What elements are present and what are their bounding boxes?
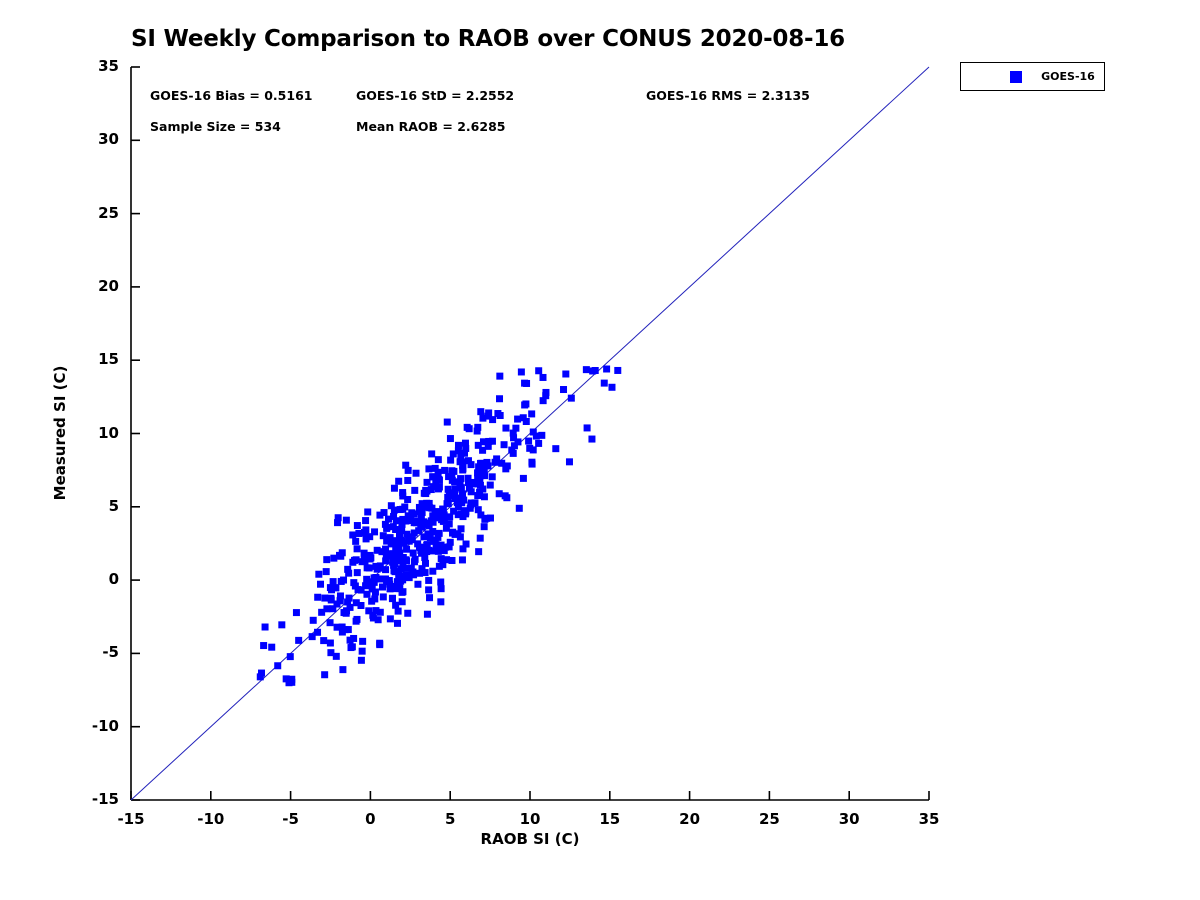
scatter-point — [424, 611, 431, 618]
scatter-point — [477, 408, 484, 415]
scatter-point — [321, 671, 328, 678]
scatter-point — [376, 641, 383, 648]
y-tick-label: 35 — [59, 57, 119, 75]
scatter-point — [399, 489, 406, 496]
scatter-point — [262, 624, 269, 631]
scatter-point — [475, 548, 482, 555]
annotation-std: GOES-16 StD = 2.2552 — [356, 88, 514, 103]
scatter-point — [317, 581, 324, 588]
scatter-point — [540, 374, 547, 381]
scatter-point — [601, 380, 608, 387]
scatter-point — [530, 446, 537, 453]
scatter-point — [503, 494, 510, 501]
scatter-point — [268, 644, 275, 651]
scatter-point — [512, 425, 519, 432]
scatter-point — [428, 450, 435, 457]
scatter-point — [339, 629, 346, 636]
scatter-point — [389, 559, 396, 566]
scatter-point — [560, 386, 567, 393]
scatter-point — [333, 653, 340, 660]
scatter-point — [354, 545, 361, 552]
scatter-point — [467, 505, 474, 512]
scatter-point — [346, 595, 353, 602]
scatter-point — [463, 541, 470, 548]
scatter-point — [411, 529, 418, 536]
y-tick-label: -10 — [59, 717, 119, 735]
scatter-point — [441, 547, 448, 554]
scatter-point — [481, 493, 488, 500]
scatter-point — [377, 609, 384, 616]
annotation-bias: GOES-16 Bias = 0.5161 — [150, 88, 312, 103]
scatter-point — [437, 598, 444, 605]
scatter-point — [588, 436, 595, 443]
scatter-point — [404, 610, 411, 617]
scatter-point — [429, 528, 436, 535]
scatter-point — [481, 523, 488, 530]
scatter-point — [332, 584, 339, 591]
scatter-point — [496, 373, 503, 380]
x-tick-label: -10 — [181, 810, 241, 828]
scatter-point — [410, 550, 417, 557]
x-tick-label: 25 — [739, 810, 799, 828]
scatter-point — [482, 461, 489, 468]
scatter-point — [274, 662, 281, 669]
scatter-point — [420, 533, 427, 540]
scatter-point — [417, 544, 424, 551]
scatter-point — [422, 490, 429, 497]
scatter-point — [315, 571, 322, 578]
scatter-point — [286, 679, 293, 686]
scatter-point — [535, 440, 542, 447]
scatter-point — [389, 595, 396, 602]
scatter-point — [293, 609, 300, 616]
scatter-point — [476, 466, 483, 473]
scatter-point — [371, 595, 378, 602]
scatter-point — [371, 528, 378, 535]
scatter-point — [364, 564, 371, 571]
x-tick-label: 15 — [580, 810, 640, 828]
scatter-point — [522, 400, 529, 407]
scatter-point — [497, 412, 504, 419]
scatter-point — [402, 462, 409, 469]
scatter-point — [426, 594, 433, 601]
scatter-point — [414, 581, 421, 588]
scatter-point — [496, 490, 503, 497]
scatter-point — [343, 607, 350, 614]
scatter-point — [260, 642, 267, 649]
scatter-point — [516, 505, 523, 512]
scatter-point — [465, 475, 472, 482]
scatter-point — [520, 475, 527, 482]
scatter-point — [477, 535, 484, 542]
scatter-point — [520, 414, 527, 421]
y-axis-label: Measured SI (C) — [51, 333, 69, 533]
scatter-point — [511, 442, 518, 449]
page-title: SI Weekly Comparison to RAOB over CONUS … — [131, 26, 931, 52]
scatter-point — [395, 608, 402, 615]
scatter-point — [354, 522, 361, 529]
scatter-point — [330, 578, 337, 585]
scatter-point — [359, 648, 366, 655]
scatter-point — [278, 621, 285, 628]
x-tick-label: 5 — [420, 810, 480, 828]
scatter-point — [323, 556, 330, 563]
scatter-point — [518, 368, 525, 375]
scatter-point — [295, 637, 302, 644]
scatter-point — [413, 470, 420, 477]
scatter-point — [287, 653, 294, 660]
scatter-point — [394, 578, 401, 585]
scatter-point — [355, 586, 362, 593]
scatter-point — [399, 589, 406, 596]
scatter-point — [435, 485, 442, 492]
legend-marker-icon — [1010, 71, 1022, 83]
scatter-point — [496, 395, 503, 402]
x-tick-label: 30 — [819, 810, 879, 828]
scatter-point — [474, 424, 481, 431]
scatter-point — [480, 438, 487, 445]
scatter-point — [327, 619, 334, 626]
scatter-point — [603, 366, 610, 373]
scatter-point — [363, 535, 370, 542]
scatter-point — [403, 557, 410, 564]
scatter-point — [444, 494, 451, 501]
scatter-point — [477, 511, 484, 518]
scatter-point — [457, 533, 464, 540]
scatter-point — [310, 617, 317, 624]
y-tick-label: 20 — [59, 277, 119, 295]
scatter-point — [487, 482, 494, 489]
y-tick-label: -15 — [59, 790, 119, 808]
scatter-point — [458, 484, 465, 491]
scatter-point — [465, 457, 472, 464]
annotation-sample-size: Sample Size = 534 — [150, 119, 281, 134]
scatter-point — [535, 367, 542, 374]
scatter-point — [540, 397, 547, 404]
scatter-point — [510, 450, 517, 457]
scatter-point — [327, 640, 334, 647]
scatter-point — [441, 511, 448, 518]
scatter-point — [361, 529, 368, 536]
scatter-point — [379, 584, 386, 591]
scatter-point — [339, 666, 346, 673]
scatter-point — [425, 577, 432, 584]
scatter-point — [403, 531, 410, 538]
scatter-point — [369, 612, 376, 619]
scatter-point — [396, 532, 403, 539]
scatter-point — [323, 605, 330, 612]
annotation-rms: GOES-16 RMS = 2.3135 — [646, 88, 810, 103]
scatter-point — [438, 555, 445, 562]
scatter-point — [387, 615, 394, 622]
x-tick-label: -5 — [261, 810, 321, 828]
scatter-point — [542, 389, 549, 396]
scatter-point — [385, 516, 392, 523]
scatter-point — [387, 583, 394, 590]
scatter-point — [430, 538, 437, 545]
x-tick-label: 0 — [340, 810, 400, 828]
scatter-point — [459, 465, 466, 472]
scatter-point — [455, 503, 462, 510]
scatter-point — [428, 517, 435, 524]
scatter-point — [552, 445, 559, 452]
scatter-point — [461, 450, 468, 457]
scatter-point — [399, 598, 406, 605]
scatter-point — [383, 525, 390, 532]
scatter-point — [448, 467, 455, 474]
y-tick-label: 0 — [59, 570, 119, 588]
scatter-point — [399, 506, 406, 513]
scatter-point — [457, 496, 464, 503]
scatter-point — [439, 561, 446, 568]
scatter-point — [382, 546, 389, 553]
scatter-point — [474, 492, 481, 499]
scatter-point — [589, 368, 596, 375]
scatter-point — [340, 577, 347, 584]
scatter-point — [528, 410, 535, 417]
scatter-point — [452, 486, 459, 493]
scatter-point — [357, 602, 364, 609]
scatter-point — [364, 508, 371, 515]
scatter-point — [489, 473, 496, 480]
scatter-point — [343, 517, 350, 524]
scatter-point — [424, 541, 431, 548]
x-tick-label: 10 — [500, 810, 560, 828]
scatter-points-goes16 — [257, 366, 622, 687]
scatter-point — [404, 477, 411, 484]
scatter-point — [479, 486, 486, 493]
scatter-point — [435, 456, 442, 463]
scatter-point — [411, 558, 418, 565]
scatter-point — [392, 546, 399, 553]
scatter-point — [498, 460, 505, 467]
scatter-point — [407, 516, 414, 523]
scatter-point — [391, 485, 398, 492]
scatter-point — [450, 450, 457, 457]
annotation-mean-raob: Mean RAOB = 2.6285 — [356, 119, 505, 134]
scatter-point — [502, 425, 509, 432]
scatter-point — [399, 516, 406, 523]
scatter-point — [349, 531, 356, 538]
scatter-point — [476, 475, 483, 482]
x-axis-label: RAOB SI (C) — [0, 830, 1060, 848]
scatter-point — [350, 579, 357, 586]
scatter-point — [344, 566, 351, 573]
scatter-point — [447, 539, 454, 546]
scatter-point — [440, 518, 447, 525]
scatter-point — [408, 509, 415, 516]
scatter-point — [449, 477, 456, 484]
scatter-point — [321, 595, 328, 602]
scatter-point — [394, 620, 401, 627]
scatter-point — [438, 585, 445, 592]
scatter-point — [608, 384, 615, 391]
scatter-point — [391, 507, 398, 514]
scatter-point — [382, 575, 389, 582]
scatter-point — [409, 568, 416, 575]
scatter-point — [437, 579, 444, 586]
scatter-point — [309, 633, 316, 640]
scatter-point — [354, 569, 361, 576]
scatter-point — [614, 367, 621, 374]
scatter-point — [369, 585, 376, 592]
scatter-point — [358, 657, 365, 664]
scatter-point — [383, 538, 390, 545]
x-tick-label: -15 — [101, 810, 161, 828]
y-tick-label: 30 — [59, 130, 119, 148]
scatter-point — [348, 644, 355, 651]
scatter-point — [353, 618, 360, 625]
scatter-point — [455, 442, 462, 449]
scatter-point — [425, 586, 432, 593]
scatter-point — [441, 467, 448, 474]
scatter-point — [349, 559, 356, 566]
scatter-point — [403, 546, 410, 553]
x-tick-label: 35 — [899, 810, 959, 828]
scatter-point — [445, 486, 452, 493]
scatter-point — [382, 557, 389, 564]
scatter-point — [489, 416, 496, 423]
scatter-point — [525, 438, 532, 445]
scatter-point — [489, 438, 496, 445]
scatter-point — [566, 458, 573, 465]
y-tick-label: -5 — [59, 643, 119, 661]
scatter-point — [501, 441, 508, 448]
scatter-figure: SI Weekly Comparison to RAOB over CONUS … — [0, 0, 1200, 900]
scatter-point — [479, 415, 486, 422]
scatter-point — [320, 637, 327, 644]
scatter-point — [444, 500, 451, 507]
scatter-point — [376, 512, 383, 519]
scatter-point — [447, 457, 454, 464]
scatter-point — [530, 428, 537, 435]
legend-label: GOES-16 — [1035, 70, 1101, 83]
plot-area — [0, 0, 1200, 900]
scatter-point — [432, 465, 439, 472]
scatter-point — [359, 638, 366, 645]
scatter-point — [583, 366, 590, 373]
scatter-point — [314, 594, 321, 601]
scatter-point — [448, 557, 455, 564]
scatter-point — [367, 555, 374, 562]
scatter-point — [404, 496, 411, 503]
scatter-point — [257, 673, 264, 680]
y-tick-label: 25 — [59, 204, 119, 222]
scatter-point — [444, 419, 451, 426]
scatter-point — [521, 380, 528, 387]
scatter-point — [337, 553, 344, 560]
scatter-point — [568, 395, 575, 402]
scatter-point — [335, 514, 342, 521]
scatter-point — [352, 538, 359, 545]
scatter-point — [562, 371, 569, 378]
scatter-point — [459, 556, 466, 563]
scatter-point — [372, 563, 379, 570]
scatter-point — [362, 517, 369, 524]
scatter-point — [323, 568, 330, 575]
scatter-point — [458, 511, 465, 518]
scatter-point — [419, 509, 426, 516]
scatter-point — [367, 578, 374, 585]
scatter-point — [492, 459, 499, 466]
scatter-point — [436, 530, 443, 537]
scatter-point — [425, 465, 432, 472]
scatter-point — [380, 593, 387, 600]
scatter-point — [528, 459, 535, 466]
scatter-point — [538, 432, 545, 439]
scatter-point — [395, 478, 402, 485]
scatter-point — [411, 487, 418, 494]
scatter-point — [426, 500, 433, 507]
scatter-point — [447, 435, 454, 442]
scatter-point — [390, 523, 397, 530]
scatter-point — [584, 424, 591, 431]
scatter-point — [418, 565, 425, 572]
scatter-point — [429, 568, 436, 575]
scatter-point — [350, 635, 357, 642]
x-tick-label: 20 — [660, 810, 720, 828]
scatter-point — [330, 555, 337, 562]
scatter-point — [466, 425, 473, 432]
scatter-point — [333, 601, 340, 608]
